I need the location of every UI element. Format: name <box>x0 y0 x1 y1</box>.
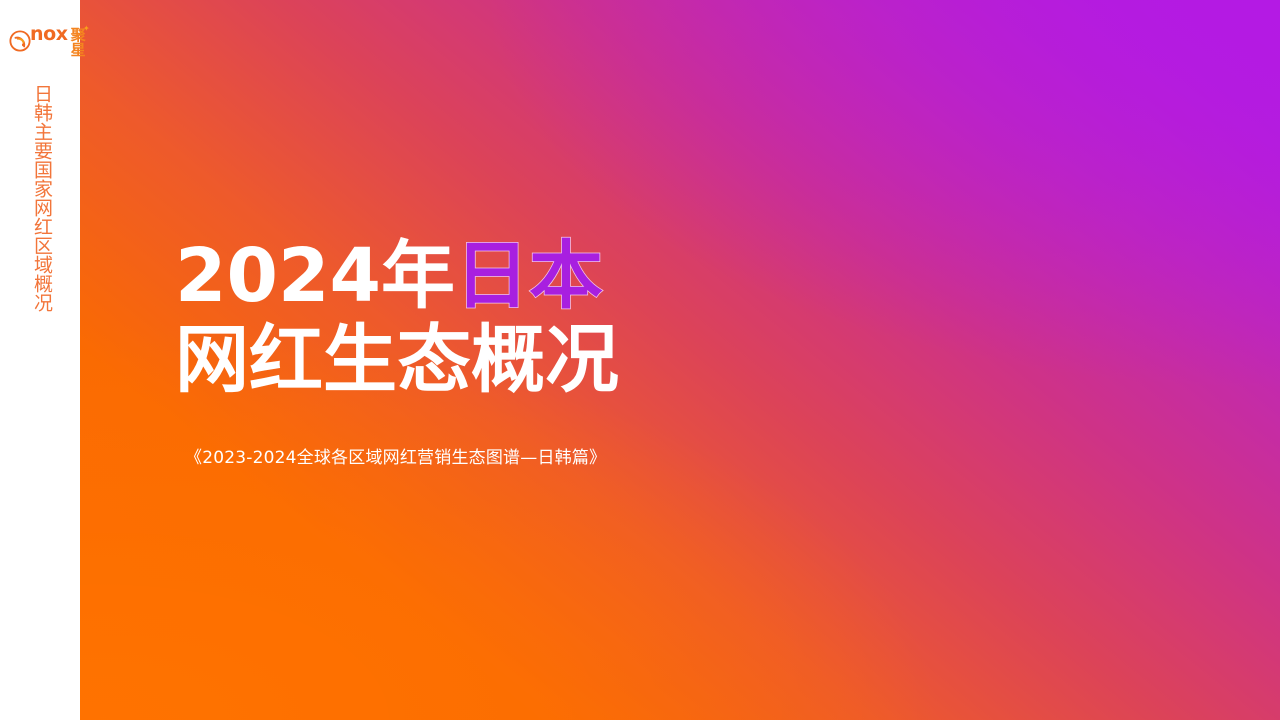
logo-latin-text: nox <box>30 25 68 44</box>
title-year-text: 2024年 <box>175 233 455 319</box>
brand-logo[interactable]: nox 聚星✦ <box>9 26 81 56</box>
subtitle: 《2023-2024全球各区域网红营销生态图谱—日韩篇》 <box>185 443 606 468</box>
slide-root: 2024年日本 网红生态概况 《2023-2024全球各区域网红营销生态图谱—日… <box>0 0 1280 720</box>
logo-cjk-text: 聚星✦ <box>71 28 86 58</box>
title-line-2: 网红生态概况 <box>175 316 935 404</box>
sidebar: nox 聚星✦ 日韩主要国家网红区域概况 <box>0 0 80 720</box>
section-vertical-label: 日韩主要国家网红区域概况 <box>30 84 54 312</box>
nox-signal-icon <box>9 30 31 52</box>
logo-wordmark: nox 聚星✦ <box>30 25 86 58</box>
title-line-1: 2024年日本 <box>175 232 935 320</box>
title-block: 2024年日本 网红生态概况 <box>175 232 935 404</box>
logo-star-icon: ✦ <box>83 25 90 33</box>
title-country-accent: 日本 <box>455 233 603 319</box>
